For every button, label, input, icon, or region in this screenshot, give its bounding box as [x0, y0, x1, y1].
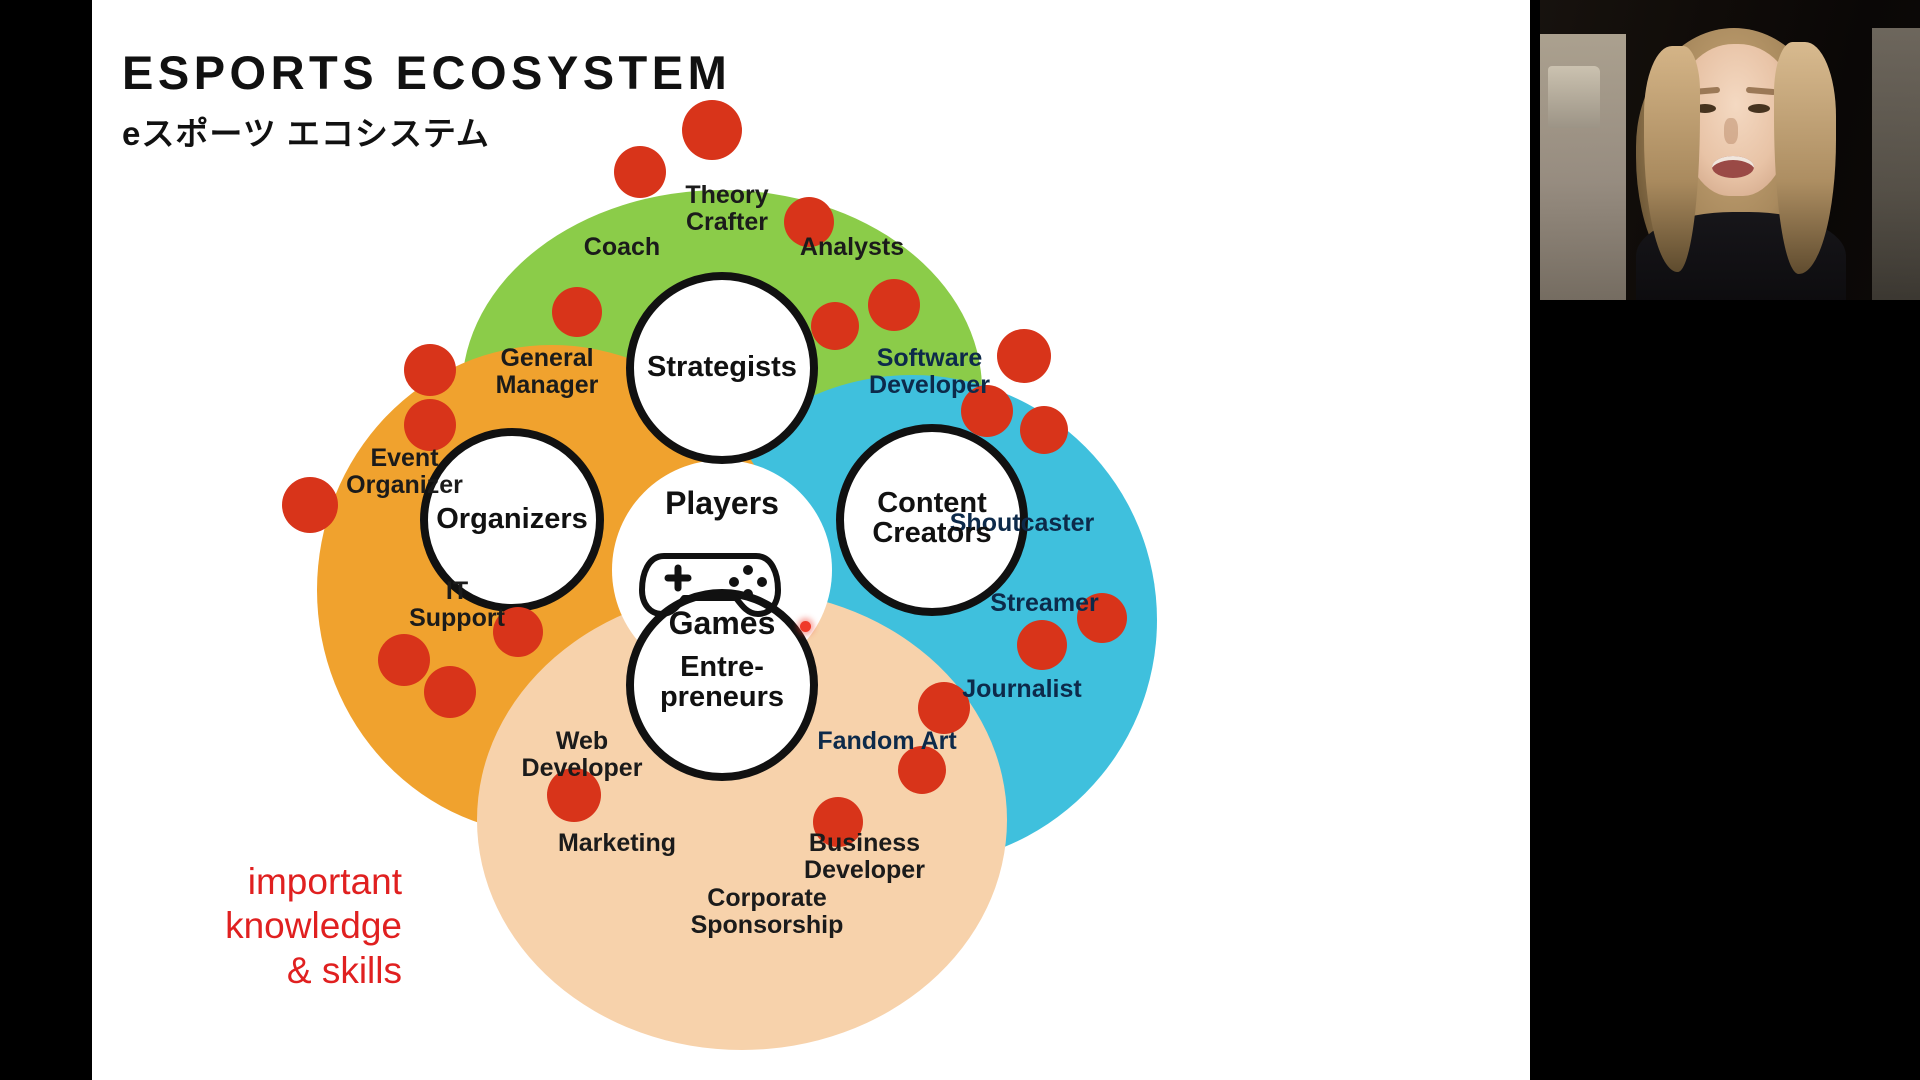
knowledge-dot [1077, 593, 1127, 643]
knowledge-dot [811, 302, 859, 350]
knowledge-dot [961, 385, 1013, 437]
knowledge-dot [784, 197, 834, 247]
knowledge-dot [547, 768, 601, 822]
hub-label-strategists: Strategists [612, 352, 832, 382]
knowledge-dot [1017, 620, 1067, 670]
knowledge-dot [378, 634, 430, 686]
participant-video-tile[interactable] [1540, 0, 1920, 300]
page-title: ESPORTS ECOSYSTEM [122, 48, 942, 97]
nose [1724, 118, 1738, 144]
core-label-players: Players [622, 485, 822, 522]
video-frame [1540, 0, 1920, 300]
cursor-highlight-dot [800, 621, 811, 632]
knowledge-dot [997, 329, 1051, 383]
ecosystem-diagram: Theory Crafter Coach Analysts General Ma… [222, 100, 1222, 1080]
knowledge-dot [282, 477, 338, 533]
knowledge-dot [404, 344, 456, 396]
core-label-games: Games [622, 605, 822, 642]
knowledge-dot [813, 797, 863, 847]
diagram-svg [222, 100, 1222, 1080]
knowledge-dot [918, 682, 970, 734]
hub-label-entrepreneurs: Entre- preneurs [627, 652, 817, 713]
knowledge-dot [898, 746, 946, 794]
mouth [1712, 156, 1754, 178]
knowledge-dot [1020, 406, 1068, 454]
knowledge-dot [404, 399, 456, 451]
knowledge-dot [424, 666, 476, 718]
shared-slide: ESPORTS ECOSYSTEM eスポーツ エコシステム important… [92, 0, 1530, 1080]
lamp-shade [1548, 66, 1600, 128]
eye-right [1748, 104, 1770, 113]
knowledge-dot [614, 146, 666, 198]
hub-label-organizers: Organizers [407, 504, 617, 534]
wall-panel-right [1872, 28, 1920, 300]
knowledge-dot [493, 607, 543, 657]
meeting-screen: ESPORTS ECOSYSTEM eスポーツ エコシステム important… [0, 0, 1920, 1080]
knowledge-dot [868, 279, 920, 331]
knowledge-dot [682, 100, 742, 160]
hub-label-content-creators: Content Creators [837, 488, 1027, 549]
knowledge-dot [552, 287, 602, 337]
